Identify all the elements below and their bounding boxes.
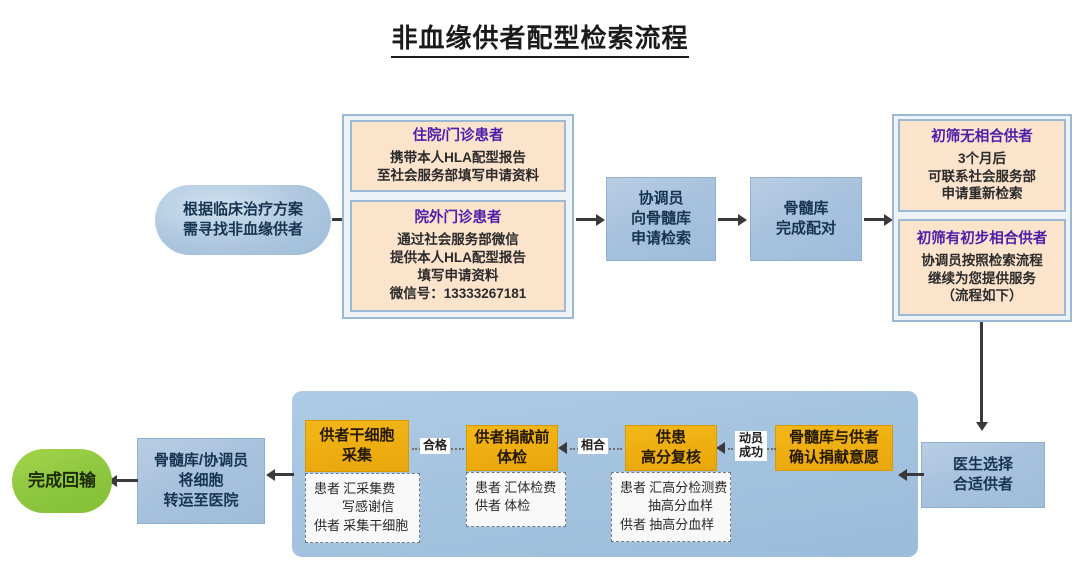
start-node[interactable]: 根据临床治疗方案 需寻找非血缘供者: [155, 185, 331, 255]
stem-cell-collection-line-1: 供者干细胞: [319, 426, 394, 446]
coordinator-line-3: 申请检索: [631, 229, 691, 249]
no-match-line-3: 申请重新检索: [942, 185, 1023, 203]
start-node-line-2: 需寻找非血缘供者: [183, 220, 303, 240]
doctor-select-line-2: 合适供者: [953, 475, 1013, 495]
page-title-text: 非血缘供者配型检索流程: [391, 23, 688, 58]
stem-cell-collection-box[interactable]: 供者干细胞 采集: [305, 420, 409, 472]
external-outpatient-header: 院外门诊患者: [415, 209, 502, 228]
high-resolution-line-1: 供患: [656, 428, 686, 448]
pre-donation-exam-note: 患者 汇体检费 供者 体检: [466, 472, 566, 527]
transport-box[interactable]: 骨髓库/协调员 将细胞 转运至医院: [137, 438, 265, 524]
arrow-patients-to-coordinator: [576, 213, 608, 227]
external-outpatient-line-3: 填写申请资料: [418, 267, 499, 285]
marrow-bank-match-box[interactable]: 骨髓库 完成配对: [750, 177, 862, 261]
start-node-line-1: 根据临床治疗方案: [183, 200, 303, 220]
page-title: 非血缘供者配型检索流程: [0, 18, 1080, 55]
arrow-transport-to-end: [108, 474, 138, 488]
stem-cell-collection-note-line-2: 写感谢信: [314, 498, 411, 516]
pre-donation-exam-note-line-2: 供者 体检: [475, 497, 557, 515]
pre-donation-exam-line-2: 体检: [497, 448, 527, 468]
external-outpatient-wechat: 微信号：13333267181: [390, 285, 527, 303]
edge-label-compatible: 相合: [578, 438, 608, 454]
has-match-header: 初筛有初步相合供者: [917, 230, 1048, 249]
edge-label-mobilization-success: 动员 成功: [735, 431, 767, 461]
confirm-willingness-line-1: 骨髓库与供者: [789, 428, 879, 448]
marrow-bank-line-1: 骨髓库: [783, 199, 828, 219]
coordinator-line-2: 向骨髓库: [631, 209, 691, 229]
pre-donation-exam-note-line-1: 患者 汇体检费: [475, 479, 557, 497]
high-resolution-note: 患者 汇高分检测费 抽高分血样 供者 抽高分血样: [611, 472, 731, 542]
has-match-line-3: （流程如下）: [942, 287, 1023, 305]
edge-label-mobilization-line-1: 动员: [738, 432, 764, 446]
inpatient-outpatient-header: 住院/门诊患者: [412, 127, 503, 146]
pre-donation-exam-line-1: 供者捐献前: [474, 428, 549, 448]
doctor-select-box[interactable]: 医生选择 合适供者: [921, 442, 1045, 508]
stem-cell-collection-note-line-1: 患者 汇采集费: [314, 480, 411, 498]
has-match-line-2: 继续为您提供服务: [928, 270, 1036, 288]
stem-cell-collection-line-2: 采集: [342, 446, 372, 466]
inpatient-line-1: 携带本人HLA配型报告: [390, 149, 526, 167]
stem-cell-collection-note: 患者 汇采集费 写感谢信 供者 采集干细胞: [305, 473, 420, 543]
coordinator-request-box[interactable]: 协调员 向骨髓库 申请检索: [606, 177, 716, 261]
high-resolution-line-2: 高分复核: [641, 448, 701, 468]
no-match-line-1: 3个月后: [958, 150, 1006, 168]
has-match-box[interactable]: 初筛有初步相合供者 协调员按照检索流程 继续为您提供服务 （流程如下）: [898, 219, 1066, 316]
arrow-doctor-to-confirm: [898, 468, 924, 482]
coordinator-line-1: 协调员: [638, 189, 683, 209]
external-outpatient-box[interactable]: 院外门诊患者 通过社会服务部微信 提供本人HLA配型报告 填写申请资料 微信号：…: [350, 200, 566, 312]
has-match-line-1: 协调员按照检索流程: [921, 252, 1043, 270]
external-outpatient-line-2: 提供本人HLA配型报告: [390, 249, 526, 267]
inpatient-line-2: 至社会服务部填写申请资料: [377, 167, 539, 185]
high-resolution-note-line-1: 患者 汇高分检测费: [620, 479, 722, 497]
no-match-line-2: 可联系社会服务部: [928, 168, 1036, 186]
no-match-box[interactable]: 初筛无相合供者 3个月后 可联系社会服务部 申请重新检索: [898, 119, 1066, 212]
edge-label-mobilization-line-2: 成功: [738, 446, 764, 460]
external-outpatient-line-1: 通过社会服务部微信: [397, 231, 519, 249]
high-resolution-box[interactable]: 供患 高分复核: [625, 425, 717, 471]
arrow-coordinator-to-bank: [718, 213, 750, 227]
flowchart-canvas: 非血缘供者配型检索流程 根据临床治疗方案 需寻找非血缘供者 住院/门诊患者 携带…: [0, 0, 1080, 568]
no-match-header: 初筛无相合供者: [931, 128, 1033, 147]
high-resolution-note-line-2: 抽高分血样: [620, 497, 722, 515]
arrowhead-to-highres: [716, 441, 730, 455]
arrow-results-to-doctor: [975, 322, 989, 434]
arrowhead-to-exam: [558, 441, 572, 455]
doctor-select-line-1: 医生选择: [953, 455, 1013, 475]
stem-cell-collection-note-line-3: 供者 采集干细胞: [314, 517, 411, 535]
marrow-bank-line-2: 完成配对: [776, 219, 836, 239]
transport-line-1: 骨髓库/协调员: [154, 451, 248, 471]
confirm-willingness-box[interactable]: 骨髓库与供者 确认捐献意愿: [775, 425, 893, 471]
end-node[interactable]: 完成回输: [12, 449, 112, 513]
transport-line-3: 转运至医院: [163, 491, 238, 511]
inpatient-outpatient-box[interactable]: 住院/门诊患者 携带本人HLA配型报告 至社会服务部填写申请资料: [350, 120, 566, 192]
pre-donation-exam-box[interactable]: 供者捐献前 体检: [466, 425, 558, 471]
edge-label-qualified: 合格: [420, 438, 450, 454]
end-node-label: 完成回输: [28, 470, 96, 492]
confirm-willingness-line-2: 确认捐献意愿: [789, 448, 879, 468]
high-resolution-note-line-3: 供者 抽高分血样: [620, 516, 722, 534]
transport-line-2: 将细胞: [178, 471, 223, 491]
arrow-panel-to-transport: [266, 468, 294, 482]
